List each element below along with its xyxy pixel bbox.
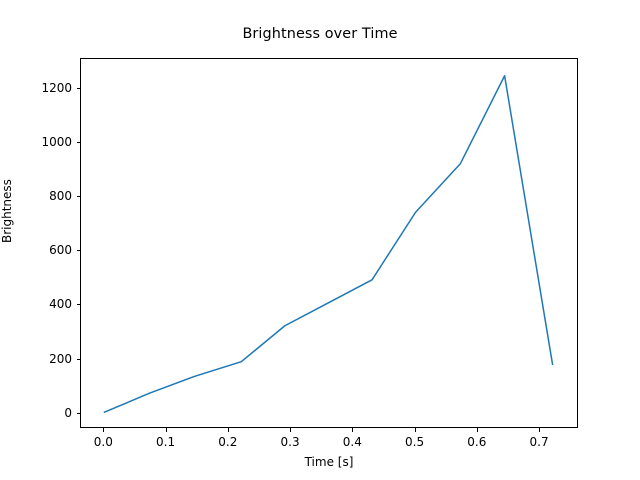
x-tick-label: 0.6 [467,435,486,449]
x-tick-label: 0.4 [343,435,362,449]
y-tick-label: 600 [0,243,72,257]
plot-canvas [81,59,579,429]
y-tick-label: 200 [0,352,72,366]
y-tick-label: 400 [0,297,72,311]
plot-area [80,58,578,428]
x-axis-label: Time [s] [80,455,578,469]
x-tick-label: 0.0 [94,435,113,449]
x-tick-label: 0.1 [156,435,175,449]
x-tick-label: 0.5 [405,435,424,449]
y-tick-label: 800 [0,189,72,203]
y-tick-label: 1000 [0,135,72,149]
x-tick-label: 0.2 [218,435,237,449]
data-series-line [104,76,552,412]
chart-figure: Brightness over Time Brightness Time [s]… [0,0,640,480]
x-tick-label: 0.3 [281,435,300,449]
chart-title: Brightness over Time [0,26,640,42]
y-tick-label: 1200 [0,81,72,95]
x-tick-label: 0.7 [530,435,549,449]
y-tick-label: 0 [0,406,72,420]
